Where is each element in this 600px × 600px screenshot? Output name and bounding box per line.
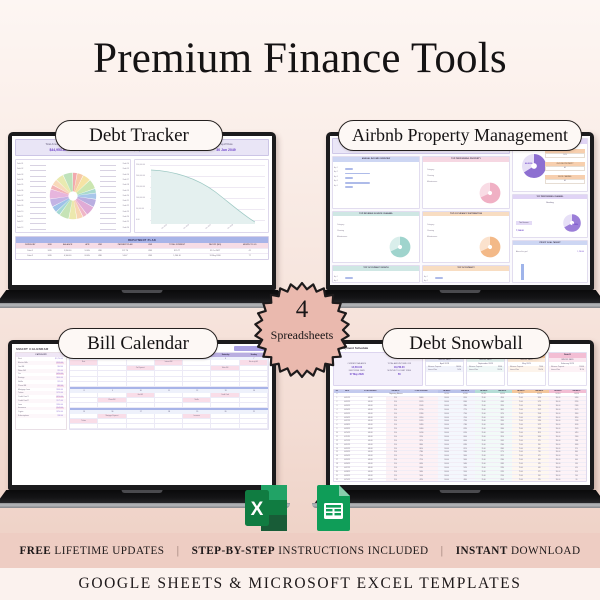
donut-leader-label: Debt 19 <box>123 190 129 192</box>
donut-leader-label: Debt 08 <box>17 200 23 202</box>
repayment-plan-table: REPAYMENT PLANCATEGORYUSDBALANCEAPRUSDPA… <box>15 236 269 260</box>
screen-airbnb: NET REVENUE$ 41,983.00EXPENSES$ 7,069.00… <box>330 136 590 285</box>
feature-1-rest: INSTRUCTIONS INCLUDED <box>278 545 428 557</box>
poster-canvas: Premium Finance Tools Total Amount Paid … <box>0 0 600 600</box>
app-icons-row: X <box>0 483 600 533</box>
donut-leader-label: Debt 24 <box>123 216 129 218</box>
filter-control[interactable]: CHOOSE PROPERTYAll <box>545 162 585 171</box>
table-row: Debt 2USD4,100.008.00%USD54.47USD1,260.1… <box>16 254 268 259</box>
calendar-cell[interactable] <box>240 424 268 429</box>
donut-leader-label: Debt 21 <box>123 200 129 202</box>
dashboard-card: PROFIT GOAL TARGETAbove this goal1,780.0… <box>512 240 588 284</box>
dashboard-card: ANNUAL INCOME OVERVIEWApt 1Apt 2Apt 3Apt… <box>332 156 420 209</box>
donut-leader-label: Debt 06 <box>17 190 23 192</box>
calendar-cell[interactable] <box>70 424 98 429</box>
screen-debt-snowball: Debt Payment ScheduleCURRENT BALANCE14,5… <box>330 344 590 485</box>
label-bill-calendar: Bill Calendar <box>58 328 218 359</box>
summary-item: MONTHS TILL DEBT FREE58 <box>379 370 421 376</box>
donut-leader-label: Debt 14 <box>123 163 129 165</box>
feature-separator: | <box>177 545 180 557</box>
calendar-cell[interactable] <box>98 424 126 429</box>
dashboard-card: TOP OCCUPANCY DISTRIBUTIONCategoryCleani… <box>422 211 510 264</box>
calendar-grid: MondayTuesdayWednesdayThursdayFridaySatu… <box>69 352 269 430</box>
donut-leader-label: Debt 16 <box>123 174 129 176</box>
microsoft-excel-icon: X <box>243 483 289 533</box>
feature-separator: | <box>441 545 444 557</box>
donut-leader-label: Debt 07 <box>17 195 23 197</box>
features-band: FREE LIFETIME UPDATES | STEP-BY-STEP INS… <box>0 533 600 568</box>
label-debt-tracker: Debt Tracker <box>55 120 223 151</box>
debt-breakdown-donut-card: Debt 01Debt 14Debt 02Debt 15Debt 03Debt … <box>15 159 131 233</box>
summary-item: TOTAL AMOUNT PAID OFF18,730.00 <box>379 363 421 369</box>
page-title: Premium Finance Tools <box>0 34 600 83</box>
donut-leader-label: Debt 18 <box>123 184 129 186</box>
table-row: 2201/10/25440.009.104970160.00484095.002… <box>334 478 586 481</box>
category-row: Subscriptions$38.00 <box>16 414 66 418</box>
badge-label: Spreadsheets <box>252 328 352 343</box>
templates-line: GOOGLE SHEETS & MICROSOFT EXCEL TEMPLATE… <box>79 575 522 593</box>
donut-leader-label: Debt 10 <box>17 211 23 213</box>
donut-leader-label: Debt 12 <box>17 221 23 223</box>
donut-leader-label: Debt 22 <box>123 205 129 207</box>
dashboard-card: TOP OCCUPANCYApt 1Apt 2Apt 3Apt 4Apt 5 <box>422 265 510 283</box>
feature-0-rest: LIFETIME UPDATES <box>54 545 164 557</box>
feature-2-rest: DOWNLOAD <box>511 545 580 557</box>
donut-leader-label: Debt 11 <box>17 216 23 218</box>
features-line: FREE LIFETIME UPDATES | STEP-BY-STEP INS… <box>20 545 581 557</box>
donut-leader-label: Debt 17 <box>123 179 129 181</box>
donut-leader-label: Debt 03 <box>17 174 23 176</box>
donut-leader-label: Debt 25 <box>123 221 129 223</box>
label-text: Bill Calendar <box>87 333 189 355</box>
donut-leader-label: Debt 05 <box>17 184 23 186</box>
calendar-cell[interactable] <box>211 424 239 429</box>
donut-leader-label: Debt 01 <box>17 163 23 165</box>
balance-over-time-area-chart: 250,000.00200,000.00150,000.00100,000.00… <box>134 159 269 233</box>
spreadsheets-count-badge: 4 Spreadsheets <box>252 280 352 380</box>
dashboard-card: TOP PERFORMING PROPERTYCategoryCleaningM… <box>422 156 510 209</box>
calendar-title: SMART CALENDAR <box>16 347 49 351</box>
donut-leader-label: Debt 04 <box>17 179 23 181</box>
donut-leader-label: Debt 02 <box>17 168 23 170</box>
dashboard-card: TOP REVENUE SOURCE CHANNELCategoryCleani… <box>332 211 420 264</box>
templates-band: GOOGLE SHEETS & MICROSOFT EXCEL TEMPLATE… <box>0 568 600 600</box>
feature-2-strong: INSTANT <box>456 545 508 557</box>
calendar-cell[interactable] <box>155 424 183 429</box>
donut-leader-label: Debt 15 <box>123 168 129 170</box>
category-sidebar: CATEGORYRent$1,250.00Electric Bills$120.… <box>15 352 67 430</box>
calendar-cell[interactable] <box>127 424 155 429</box>
feature-0-strong: FREE <box>20 545 52 557</box>
donut-leader-label: Debt 23 <box>123 211 129 213</box>
badge-number: 4 <box>252 296 352 324</box>
dashboard-card: TOP PERFORMING CHANNELBookingTotal Incom… <box>512 194 588 238</box>
label-text: Debt Snowball <box>409 333 522 355</box>
screen-debt-tracker: Total Amount Paid Off$44,953.84Total Int… <box>12 136 272 285</box>
filter-control[interactable]: BOOK CHANNELAll <box>545 175 585 184</box>
label-airbnb: Airbnb Property Management <box>338 120 582 151</box>
label-debt-snowball: Debt Snowball <box>382 328 550 359</box>
debt-card: Debt DPAYOFF DATEFebruary 2029Minimum Pa… <box>548 352 587 386</box>
svg-text:X: X <box>251 499 264 520</box>
feature-1-strong: STEP-BY-STEP <box>192 545 275 557</box>
donut-leader-label: Debt 13 <box>17 227 23 229</box>
google-sheets-icon <box>311 483 357 533</box>
calendar-cell[interactable] <box>183 424 211 429</box>
screen-bill-calendar: SMART CALENDARCATEGORYRent$1,250.00Elect… <box>12 344 272 485</box>
label-text: Airbnb Property Management <box>352 125 568 146</box>
donut-leader-label: Debt 20 <box>123 195 129 197</box>
snowball-schedule-table: NODATETOTAL PAYMENTBALANCETOTAL INTEREST… <box>333 389 587 482</box>
donut-leader-label: Debt 26 <box>123 227 129 229</box>
label-text: Debt Tracker <box>89 125 189 147</box>
donut-leader-label: Debt 09 <box>17 205 23 207</box>
